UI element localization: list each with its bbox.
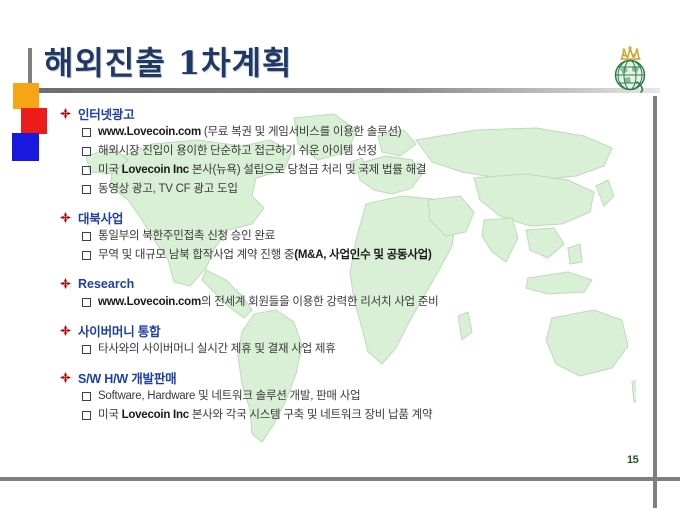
section-header: 사이버머니 통합 <box>0 321 660 340</box>
bullet-item-text: 무역 및 대규모 남북 합작사업 계약 진행 중(M&A, 사업인수 및 공동사… <box>98 249 432 261</box>
bullet-item-text: 미국 Lovecoin Inc 본사(뉴욕) 설립으로 당첨금 처리 및 국제 … <box>98 164 426 176</box>
section-header: 대북사업 <box>0 208 660 227</box>
bullet-text-run: (무료 복권 및 게임서비스를 이용한 솔루션) <box>201 126 401 138</box>
green-globe-crown-logo <box>606 44 654 94</box>
bullet-text-run: 미국 <box>98 409 122 421</box>
square-bullet-icon <box>82 147 91 156</box>
bullet-text-run: 해외시장 진입이 용이한 단순하고 접근하기 쉬운 아이템 선정 <box>98 145 377 157</box>
section-title: S/W H/W 개발판매 <box>78 368 176 387</box>
bullet-item: 동영상 광고, TV CF 광고 도입 <box>0 180 660 199</box>
bullet-text-run: 본사(뉴욕) 설립으로 당첨금 처리 및 국제 법률 해결 <box>189 164 426 176</box>
bullet-text-run: 통일부의 북한주민접촉 신청 승인 완료 <box>98 230 275 242</box>
bottom-rule <box>0 477 680 481</box>
bullet-text-emphasis: www.Lovecoin.com <box>98 126 201 138</box>
bullet-item: 무역 및 대규모 남북 합작사업 계약 진행 중(M&A, 사업인수 및 공동사… <box>0 246 660 265</box>
bullet-item-text: 동영상 광고, TV CF 광고 도입 <box>98 183 238 195</box>
bullet-item: www.Lovecoin.com (무료 복권 및 게임서비스를 이용한 솔루션… <box>0 123 660 142</box>
square-bullet-icon <box>82 232 91 241</box>
square-bullet-icon <box>82 251 91 260</box>
bullet-item: 통일부의 북한주민접촉 신청 승인 완료 <box>0 227 660 246</box>
bullet-text-run: 미국 <box>98 164 122 176</box>
section-title: 대북사업 <box>78 208 123 227</box>
bullet-section: 사이버머니 통합타사와의 사이버머니 실시간 제휴 및 결재 사업 제휴 <box>0 321 660 359</box>
section-title: 사이버머니 통합 <box>78 321 160 340</box>
bullet-item-text: 미국 Lovecoin Inc 본사와 각국 시스템 구축 및 네트워크 장비 … <box>98 409 432 421</box>
bullet-content: 인터넷광고www.Lovecoin.com (무료 복권 및 게임서비스를 이용… <box>0 104 660 434</box>
bullet-text-emphasis: Lovecoin Inc <box>122 409 189 421</box>
bullet-item: 미국 Lovecoin Inc 본사(뉴욕) 설립으로 당첨금 처리 및 국제 … <box>0 161 660 180</box>
bullet-text-run: 본사와 각국 시스템 구축 및 네트워크 장비 납품 계약 <box>189 409 432 421</box>
title-divider-rule <box>28 88 660 93</box>
bullet-item-text: 통일부의 북한주민접촉 신청 승인 완료 <box>98 230 275 242</box>
bullet-text-emphasis: www.Lovecoin.com <box>98 296 201 308</box>
square-bullet-icon <box>82 298 91 307</box>
square-bullet-icon <box>82 166 91 175</box>
bullet-text-run: Software, Hardware 및 네트워크 솔루션 개발, 판매 사업 <box>98 390 360 402</box>
bullet-item-text: 해외시장 진입이 용이한 단순하고 접근하기 쉬운 아이템 선정 <box>98 145 377 157</box>
bullet-section: 인터넷광고www.Lovecoin.com (무료 복권 및 게임서비스를 이용… <box>0 104 660 199</box>
bullet-item-text: www.Lovecoin.com (무료 복권 및 게임서비스를 이용한 솔루션… <box>98 126 401 138</box>
bullet-item: Software, Hardware 및 네트워크 솔루션 개발, 판매 사업 <box>0 387 660 406</box>
bullet-text-emphasis: (M&A, 사업인수 및 공동사업) <box>294 249 431 261</box>
bullet-item-text: 타사와의 사이버머니 실시간 제휴 및 결재 사업 제휴 <box>98 343 336 355</box>
square-bullet-icon <box>82 411 91 420</box>
slide-canvas: 해외진출 1차계획 <box>0 0 680 510</box>
section-title: Research <box>78 277 134 291</box>
bullet-item-text: www.Lovecoin.com의 전세계 회원들을 이용한 강력한 리서치 사… <box>98 296 438 308</box>
diamond-bullet-icon <box>60 108 71 119</box>
bullet-text-run: 동영상 광고, TV CF 광고 도입 <box>98 183 238 195</box>
section-header: Research <box>0 274 660 293</box>
square-bullet-icon <box>82 392 91 401</box>
bullet-item: 타사와의 사이버머니 실시간 제휴 및 결재 사업 제휴 <box>0 340 660 359</box>
diamond-bullet-icon <box>60 325 71 336</box>
diamond-bullet-icon <box>60 372 71 383</box>
diamond-bullet-icon <box>60 278 71 289</box>
bullet-item: 해외시장 진입이 용이한 단순하고 접근하기 쉬운 아이템 선정 <box>0 142 660 161</box>
bullet-item-text: Software, Hardware 및 네트워크 솔루션 개발, 판매 사업 <box>98 390 360 402</box>
bullet-text-run: 의 전세계 회원들을 이용한 강력한 리서치 사업 준비 <box>201 296 439 308</box>
square-bullet-icon <box>82 185 91 194</box>
square-bullet-icon <box>82 345 91 354</box>
section-header: S/W H/W 개발판매 <box>0 368 660 387</box>
diamond-bullet-icon <box>60 212 71 223</box>
bullet-section: S/W H/W 개발판매Software, Hardware 및 네트워크 솔루… <box>0 368 660 425</box>
bullet-section: Researchwww.Lovecoin.com의 전세계 회원들을 이용한 강… <box>0 274 660 312</box>
bullet-section: 대북사업통일부의 북한주민접촉 신청 승인 완료무역 및 대규모 남북 합작사업… <box>0 208 660 265</box>
slide-title: 해외진출 1차계획 <box>44 38 293 84</box>
section-title: 인터넷광고 <box>78 104 135 123</box>
bullet-text-emphasis: Lovecoin Inc <box>122 164 189 176</box>
page-number: 15 <box>627 454 638 466</box>
square-bullet-icon <box>82 128 91 137</box>
bullet-text-run: 무역 및 대규모 남북 합작사업 계약 진행 중 <box>98 249 294 261</box>
bullet-item: www.Lovecoin.com의 전세계 회원들을 이용한 강력한 리서치 사… <box>0 293 660 312</box>
bullet-item: 미국 Lovecoin Inc 본사와 각국 시스템 구축 및 네트워크 장비 … <box>0 406 660 425</box>
bullet-text-run: 타사와의 사이버머니 실시간 제휴 및 결재 사업 제휴 <box>98 343 336 355</box>
section-header: 인터넷광고 <box>0 104 660 123</box>
